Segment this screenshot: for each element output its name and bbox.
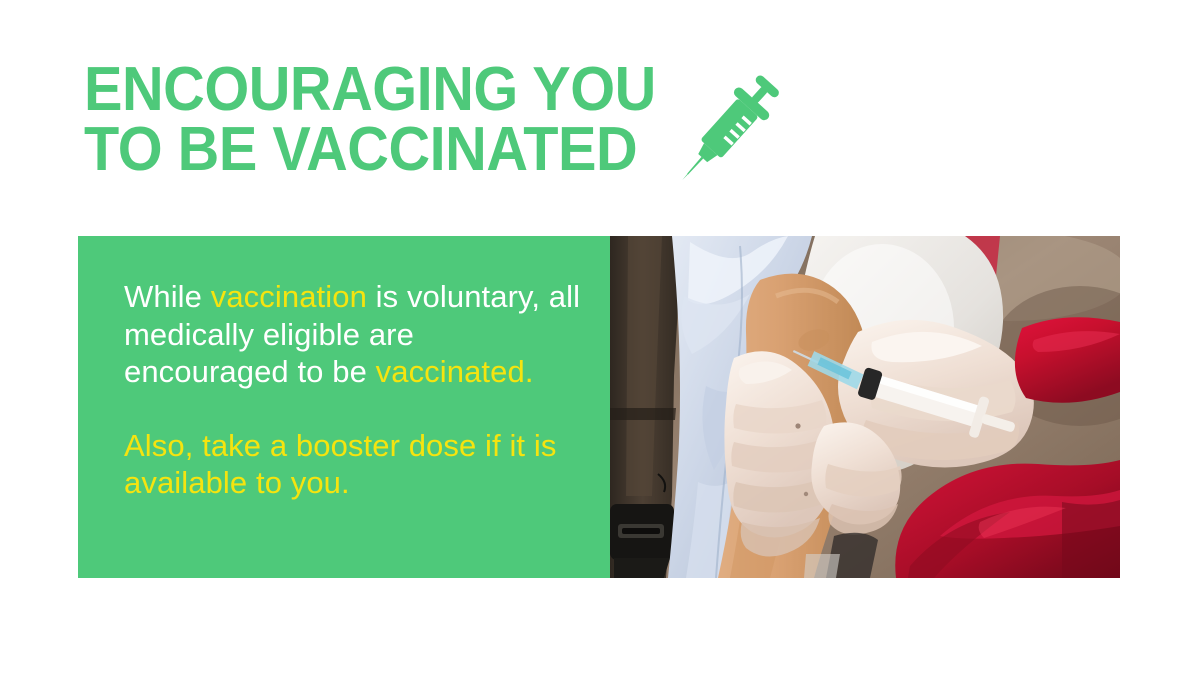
panel-text-block: While vaccination is voluntary, all medi…: [124, 278, 584, 502]
syringe-icon: [672, 62, 784, 192]
slide-root: ENCOURAGING YOU TO BE VACCINATED: [0, 0, 1200, 675]
vaccination-photo: [610, 236, 1120, 578]
headline-line-2: TO BE VACCINATED: [84, 120, 754, 180]
paragraph-vaccination: While vaccination is voluntary, all medi…: [124, 278, 584, 391]
page-title: ENCOURAGING YOU TO BE VACCINATED: [84, 60, 754, 180]
para1-highlight-vaccination: vaccination: [211, 279, 367, 314]
para1-part-a: While: [124, 279, 211, 314]
headline-line-1: ENCOURAGING YOU: [84, 60, 754, 120]
para1-highlight-vaccinated: vaccinated.: [376, 354, 534, 389]
green-content-panel: While vaccination is voluntary, all medi…: [78, 236, 610, 578]
paragraph-booster: Also, take a booster dose if it is avail…: [124, 427, 584, 502]
